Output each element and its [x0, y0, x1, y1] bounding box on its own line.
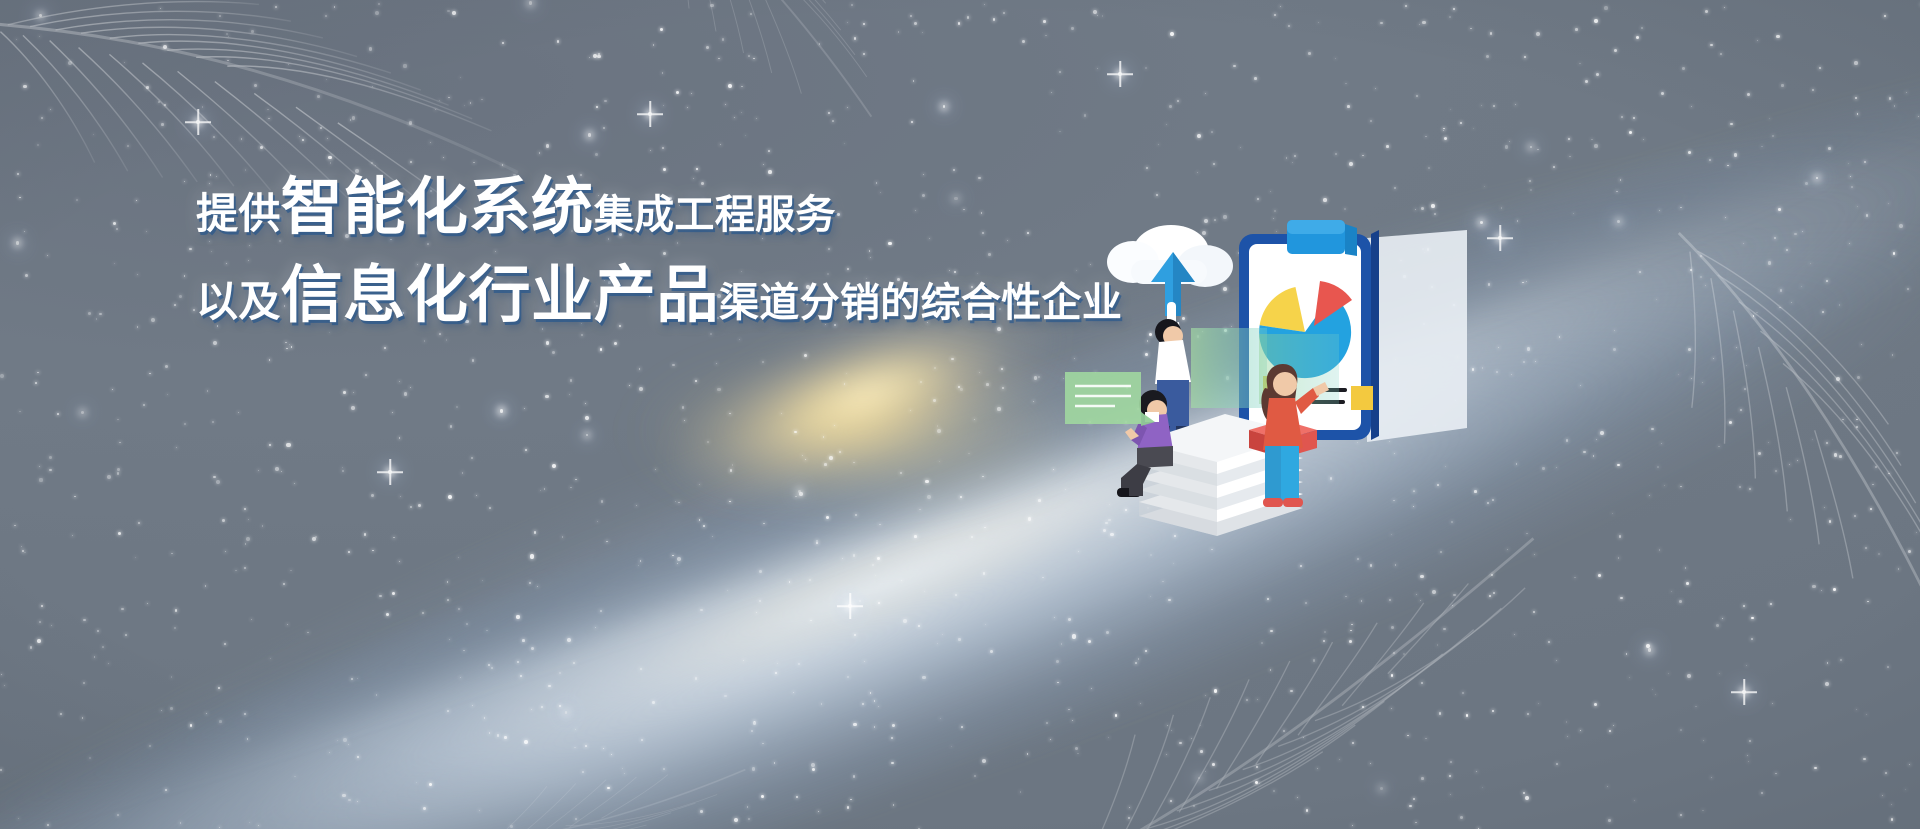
headline-line1-segment-1: 提供	[196, 193, 281, 235]
headline-line2-segment-2: 信息化行业产品	[281, 264, 719, 326]
headline-line1-segment-3: 集成工程服务	[594, 195, 836, 235]
clipboard-clip	[1287, 220, 1357, 256]
headline-line-1: 提供智能化系统集成工程服务	[196, 176, 1116, 238]
hero-banner: 提供智能化系统集成工程服务 以及信息化行业产品渠道分销的综合性企业	[0, 0, 1920, 829]
panel-green	[1191, 328, 1267, 408]
headline-line2-segment-1: 以及	[196, 281, 281, 323]
headline-line-2: 以及信息化行业产品渠道分销的综合性企业	[196, 264, 1116, 326]
hero-headline: 提供智能化系统集成工程服务 以及信息化行业产品渠道分销的综合性企业	[196, 176, 1116, 326]
business-analytics-illustration	[1135, 216, 1695, 536]
headline-line2-segment-3: 渠道分销的综合性企业	[719, 283, 1122, 323]
headline-line1-segment-2: 智能化系统	[281, 176, 594, 238]
sticky-note	[1351, 386, 1373, 410]
